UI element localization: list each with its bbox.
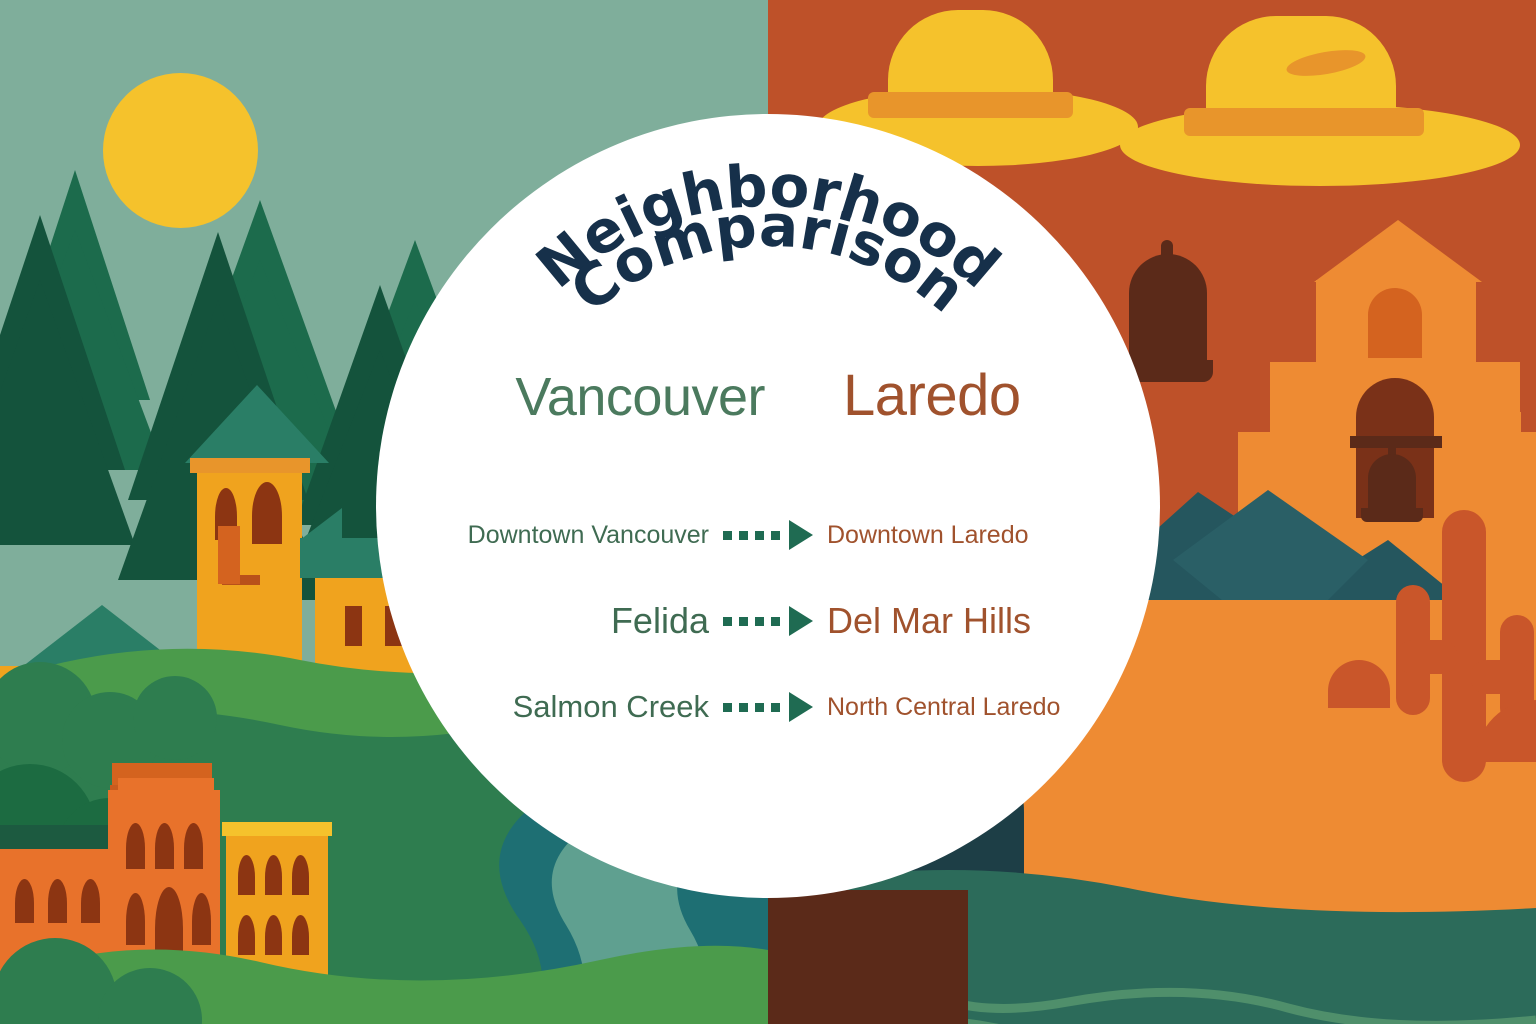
city-name-left: Vancouver bbox=[515, 366, 765, 428]
neighborhood-pair-row: Salmon Creek North Central Laredo bbox=[376, 664, 1160, 750]
mesa-shadow bbox=[768, 890, 968, 1024]
arrow-dash bbox=[771, 703, 780, 712]
infographic-canvas: Neighborhood Comparison Vancouver Laredo… bbox=[0, 0, 1536, 1024]
neighborhood-target: North Central Laredo bbox=[813, 693, 1157, 722]
arrow-dash bbox=[723, 617, 732, 626]
foreground-hill bbox=[0, 920, 768, 1024]
cowboy-hat-icon bbox=[1138, 16, 1536, 236]
arrow-dash bbox=[771, 617, 780, 626]
arrow-head bbox=[789, 520, 813, 550]
arrow-head bbox=[789, 692, 813, 722]
arrow-head bbox=[789, 606, 813, 636]
arrow-dash bbox=[755, 703, 764, 712]
neighborhood-pair-row: Felida Del Mar Hills bbox=[376, 578, 1160, 664]
neighborhood-source: Salmon Creek bbox=[379, 689, 723, 725]
arrow-right-dashed-icon bbox=[723, 606, 813, 636]
neighborhood-pair-row: Downtown Vancouver Downtown Laredo bbox=[376, 492, 1160, 578]
arrow-dash bbox=[755, 531, 764, 540]
arrow-dash bbox=[739, 531, 748, 540]
arrow-dash bbox=[723, 703, 732, 712]
arrow-dash bbox=[739, 703, 748, 712]
arrow-dash bbox=[723, 531, 732, 540]
arrow-dash bbox=[755, 617, 764, 626]
arrow-right-dashed-icon bbox=[723, 692, 813, 722]
arrow-dash bbox=[739, 617, 748, 626]
neighborhood-source: Felida bbox=[379, 600, 723, 642]
neighborhood-target: Del Mar Hills bbox=[813, 600, 1157, 642]
neighborhood-pair-list: Downtown Vancouver Downtown Laredo Felid… bbox=[376, 492, 1160, 750]
city-name-right: Laredo bbox=[843, 362, 1021, 429]
city-headers: Vancouver Laredo bbox=[376, 362, 1160, 429]
arrow-dash bbox=[771, 531, 780, 540]
comparison-content: Vancouver Laredo Downtown Vancouver Down… bbox=[376, 114, 1160, 898]
neighborhood-target: Downtown Laredo bbox=[813, 521, 1157, 550]
arrow-right-dashed-icon bbox=[723, 520, 813, 550]
neighborhood-source: Downtown Vancouver bbox=[379, 521, 723, 550]
